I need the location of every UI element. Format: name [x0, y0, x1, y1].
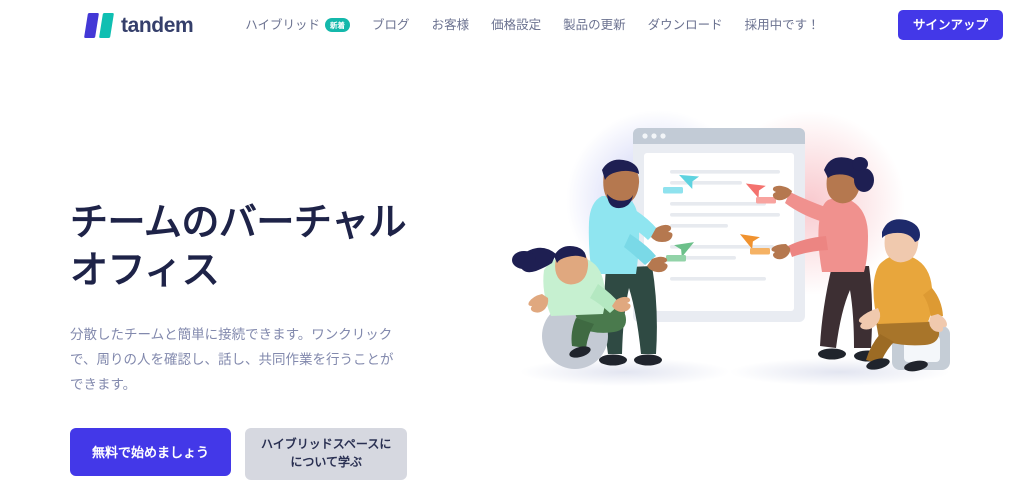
nav-item-label: ハイブリッド: [245, 19, 320, 32]
nav-item-label: 価格設定: [491, 19, 541, 32]
nav-item-label: お客様: [432, 19, 470, 32]
signup-button[interactable]: サインアップ: [898, 10, 1003, 41]
hero-cta-group: 無料で始めましょう ハイブリッドスペースに について学ぶ: [70, 428, 470, 480]
nav-item-pricing[interactable]: 価格設定: [491, 19, 541, 32]
team-collaboration-illustration: [480, 108, 980, 408]
nav-item-product-updates[interactable]: 製品の更新: [563, 19, 626, 32]
nav-badge-new: 新着: [325, 18, 350, 32]
brand-wordmark: tandem: [121, 15, 193, 36]
nav-item-customers[interactable]: お客様: [432, 19, 470, 32]
window-dot: [651, 133, 656, 138]
site-header: tandem ハイブリッド 新着 ブログ お客様 価格設定 製品の更新 ダウンロ…: [0, 0, 1025, 50]
nav-item-blog[interactable]: ブログ: [372, 19, 410, 32]
parallelogram-teal-icon: [99, 13, 114, 38]
hero-section: チームのバーチャル オフィス 分散したチームと簡単に接続できます。ワンクリックで…: [0, 50, 1025, 485]
primary-nav: ハイブリッド 新着 ブログ お客様 価格設定 製品の更新 ダウンロード 採用中で…: [245, 18, 898, 32]
nav-item-hybrid[interactable]: ハイブリッド 新着: [245, 18, 350, 32]
hero-copy: チームのバーチャル オフィス 分散したチームと簡単に接続できます。ワンクリックで…: [70, 50, 470, 480]
nav-item-hiring[interactable]: 採用中です！: [745, 19, 820, 32]
learn-hybrid-space-button[interactable]: ハイブリッドスペースに について学ぶ: [245, 428, 407, 480]
nav-item-label: 製品の更新: [563, 19, 626, 32]
window-dot: [642, 133, 647, 138]
parallelogram-indigo-icon: [84, 13, 99, 38]
brand-logo[interactable]: tandem: [86, 13, 193, 38]
logo-mark: [86, 13, 112, 38]
hair-bun: [854, 168, 874, 192]
start-free-button[interactable]: 無料で始めましょう: [70, 428, 231, 476]
nav-item-download[interactable]: ダウンロード: [648, 19, 723, 32]
window-dot: [660, 133, 665, 138]
nav-item-label: ブログ: [372, 19, 410, 32]
hero-title: チームのバーチャル オフィス: [70, 200, 470, 296]
nav-item-label: ダウンロード: [648, 19, 723, 32]
document-window: [633, 128, 805, 322]
hero-subtitle: 分散したチームと簡単に接続できます。ワンクリックで、周りの人を確認し、話し、共同…: [70, 323, 405, 398]
nav-item-label: 採用中です！: [745, 19, 820, 32]
